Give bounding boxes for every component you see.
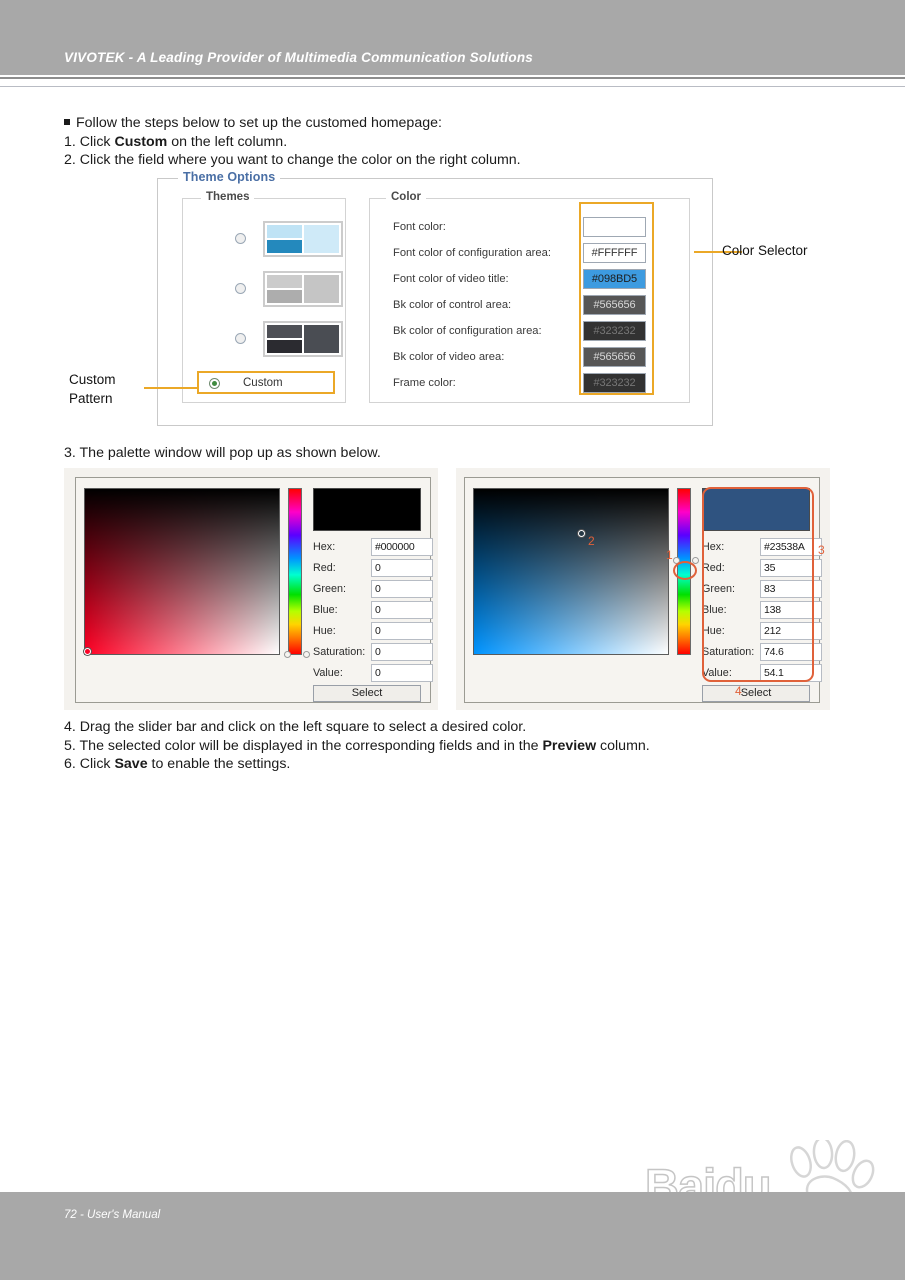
sv-marker-right[interactable] bbox=[578, 530, 585, 537]
theme-thumbnail-2[interactable] bbox=[263, 271, 343, 307]
color-row-label: Font color of video title: bbox=[393, 273, 509, 285]
theme-thumbnail-1[interactable] bbox=[263, 221, 343, 257]
field-label: Blue: bbox=[313, 604, 338, 616]
field-label: Green: bbox=[313, 583, 346, 595]
radio-custom[interactable] bbox=[209, 378, 220, 389]
saturation-value-field-right[interactable] bbox=[473, 488, 669, 655]
custom-pattern-callout-line1: Custom bbox=[69, 372, 116, 387]
square-bullet-icon bbox=[64, 119, 70, 125]
sidebar-item-custom[interactable]: Custom bbox=[197, 371, 335, 394]
color-swatch-bk-config-area[interactable]: #323232 bbox=[583, 321, 646, 341]
theme-thumbnail-3[interactable] bbox=[263, 321, 343, 357]
color-row[interactable]: Bk color of video area: #565656 bbox=[370, 347, 691, 370]
header-divider-dark bbox=[0, 77, 905, 79]
green-input-left[interactable]: 0 bbox=[371, 580, 433, 598]
color-row[interactable]: Bk color of configuration area: #323232 bbox=[370, 321, 691, 344]
color-row-label: Font color of configuration area: bbox=[393, 247, 551, 259]
select-button-left[interactable]: Select bbox=[313, 685, 421, 702]
color-swatch-font-color[interactable] bbox=[583, 217, 646, 237]
color-row[interactable]: Frame color: #323232 bbox=[370, 373, 691, 396]
color-swatch-bk-control-area[interactable]: #565656 bbox=[583, 295, 646, 315]
color-swatch-font-video-title[interactable]: #098BD5 bbox=[583, 269, 646, 289]
field-label: Red: bbox=[313, 562, 336, 574]
field-label: Hue: bbox=[313, 625, 336, 637]
hue-input-left[interactable]: 0 bbox=[371, 622, 433, 640]
color-swatch-bk-video-area[interactable]: #565656 bbox=[583, 347, 646, 367]
radio-theme-2[interactable] bbox=[235, 283, 246, 294]
intro-steps: Follow the steps below to set up the cus… bbox=[64, 114, 844, 170]
callout-1-ellipse bbox=[673, 561, 697, 580]
value-input-left[interactable]: 0 bbox=[371, 664, 433, 682]
theme-options-panel: Theme Options Themes bbox=[157, 178, 713, 426]
field-row-saturation-left[interactable]: Saturation: 0 bbox=[313, 643, 453, 664]
preview-swatch-left bbox=[313, 488, 421, 531]
saturation-value-field-left[interactable] bbox=[84, 488, 280, 655]
custom-label: Custom bbox=[243, 377, 283, 389]
field-row-blue-left[interactable]: Blue: 0 bbox=[313, 601, 453, 622]
value-gradient-layer bbox=[85, 489, 279, 654]
field-row-red-left[interactable]: Red: 0 bbox=[313, 559, 453, 580]
hue-slider-handle-left-left[interactable] bbox=[284, 651, 291, 658]
callout-1-number: 1 bbox=[666, 548, 673, 562]
color-row[interactable]: Bk color of control area: #565656 bbox=[370, 295, 691, 318]
sidebar-item-theme-2[interactable] bbox=[183, 269, 347, 309]
value-gradient-layer bbox=[474, 489, 668, 654]
color-row[interactable]: Font color of configuration area: #FFFFF… bbox=[370, 243, 691, 266]
hue-slider-handle-left-right[interactable] bbox=[303, 651, 310, 658]
color-row-label: Bk color of control area: bbox=[393, 299, 511, 311]
callout-2-number: 2 bbox=[588, 534, 595, 548]
step-4: 4. Drag the slider bar and click on the … bbox=[64, 718, 864, 737]
intro-bullet-line: Follow the steps below to set up the cus… bbox=[64, 114, 844, 133]
callout-4-number: 4 bbox=[735, 684, 742, 698]
field-row-green-left[interactable]: Green: 0 bbox=[313, 580, 453, 601]
lower-steps: 4. Drag the slider bar and click on the … bbox=[64, 718, 864, 774]
select-button-right[interactable]: Select bbox=[702, 685, 810, 702]
header-divider-light bbox=[0, 86, 905, 87]
field-label: Value: bbox=[313, 667, 343, 679]
intro-step-2: 2. Click the field where you want to cha… bbox=[64, 151, 844, 170]
color-row[interactable]: Font color of video title: #098BD5 bbox=[370, 269, 691, 292]
intro-step-1: 1. Click Custom on the left column. bbox=[64, 133, 844, 152]
field-label: Hex: bbox=[313, 541, 335, 553]
color-row[interactable]: Font color: bbox=[370, 217, 691, 240]
callout-3-rect bbox=[702, 487, 814, 682]
themes-legend: Themes bbox=[201, 191, 254, 203]
color-fieldset: Color Font color: Font color of configur… bbox=[369, 198, 690, 403]
color-palette-window-initial: Hex: #000000 Red: 0 Green: 0 Blue: 0 Hue… bbox=[75, 477, 431, 703]
page-footer-band bbox=[0, 1192, 905, 1280]
callout-3-number: 3 bbox=[818, 543, 825, 557]
field-row-hue-left[interactable]: Hue: 0 bbox=[313, 622, 453, 643]
step-5: 5. The selected color will be displayed … bbox=[64, 737, 864, 756]
field-label: Saturation: bbox=[313, 646, 365, 658]
saturation-input-left[interactable]: 0 bbox=[371, 643, 433, 661]
color-row-label: Frame color: bbox=[393, 377, 456, 389]
hex-input-left[interactable]: #000000 bbox=[371, 538, 433, 556]
custom-pattern-callout-line2: Pattern bbox=[69, 391, 113, 406]
radio-custom-dot bbox=[212, 381, 217, 386]
themes-fieldset: Themes bbox=[182, 198, 346, 403]
step-3-caption: 3. The palette window will pop up as sho… bbox=[64, 444, 381, 463]
hue-slider-left[interactable] bbox=[288, 488, 302, 655]
step-6: 6. Click Save to enable the settings. bbox=[64, 755, 864, 774]
field-row-hex-left[interactable]: Hex: #000000 bbox=[313, 538, 453, 559]
color-row-label: Bk color of video area: bbox=[393, 351, 504, 363]
radio-theme-3[interactable] bbox=[235, 333, 246, 344]
sidebar-item-theme-3[interactable] bbox=[183, 319, 347, 359]
color-swatch-frame-color[interactable]: #323232 bbox=[583, 373, 646, 393]
theme-options-legend: Theme Options bbox=[178, 170, 280, 184]
red-input-left[interactable]: 0 bbox=[371, 559, 433, 577]
color-row-label: Font color: bbox=[393, 221, 446, 233]
sidebar-item-theme-1[interactable] bbox=[183, 219, 347, 259]
header-title: VIVOTEK - A Leading Provider of Multimed… bbox=[64, 50, 533, 65]
field-row-value-left[interactable]: Value: 0 bbox=[313, 664, 453, 685]
color-swatch-font-config-area[interactable]: #FFFFFF bbox=[583, 243, 646, 263]
color-selector-callout-label: Color Selector bbox=[722, 243, 808, 258]
footer-page-label: 72 - User's Manual bbox=[64, 1209, 160, 1221]
color-row-label: Bk color of configuration area: bbox=[393, 325, 542, 337]
sv-marker-left[interactable] bbox=[84, 648, 91, 655]
blue-input-left[interactable]: 0 bbox=[371, 601, 433, 619]
radio-theme-1[interactable] bbox=[235, 233, 246, 244]
custom-pattern-callout-line bbox=[144, 387, 199, 389]
color-legend: Color bbox=[386, 191, 426, 203]
